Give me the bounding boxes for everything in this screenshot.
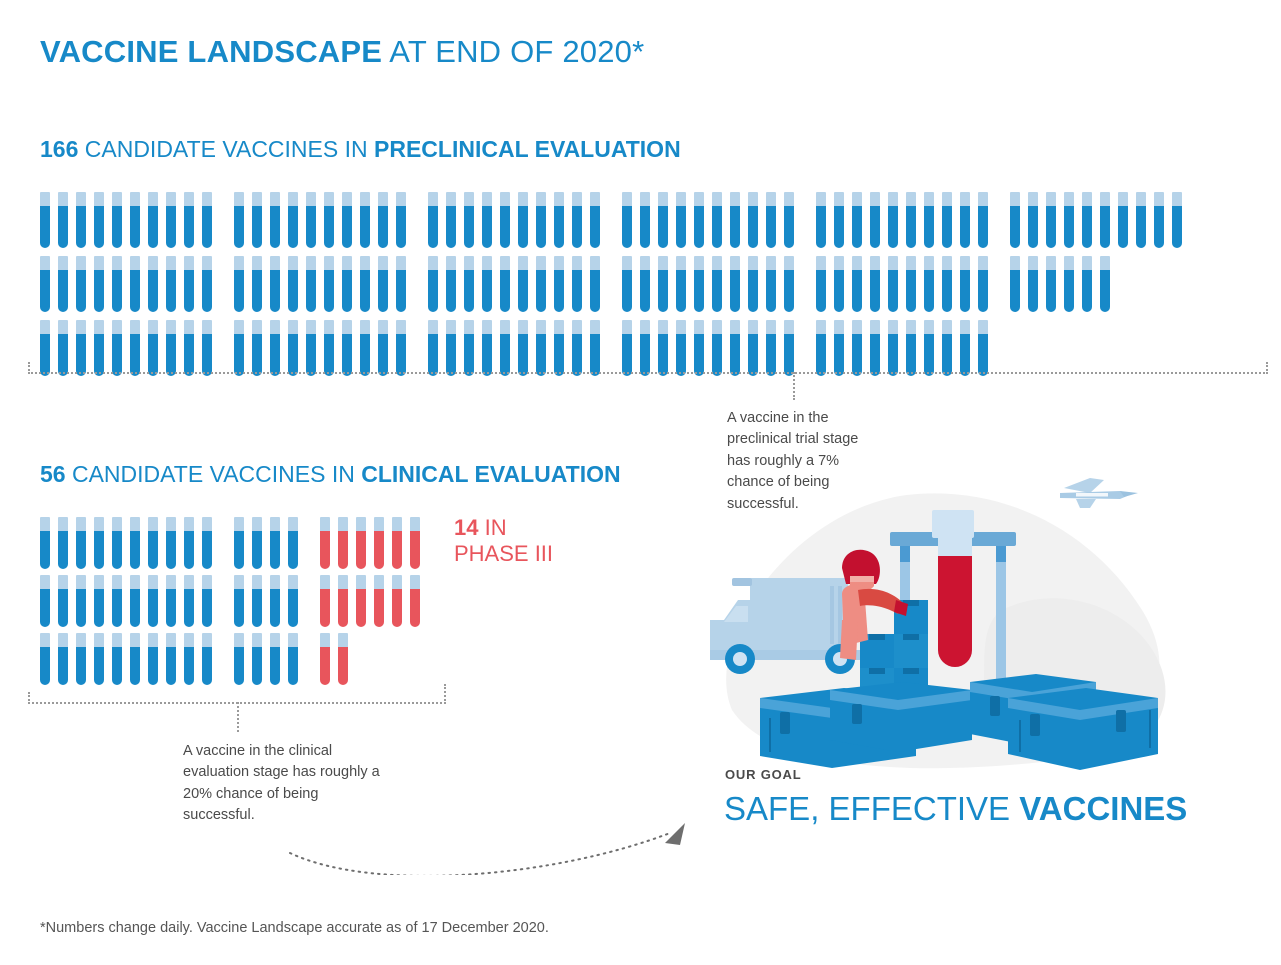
- tube-body: [288, 647, 298, 685]
- preclinical-bracket-dropline: [793, 372, 795, 400]
- tube-body: [270, 647, 280, 685]
- tube-row: [40, 517, 428, 569]
- tube-body: [410, 589, 420, 627]
- tube-icon: [76, 633, 86, 685]
- tube-body: [202, 206, 212, 248]
- tube-icon: [1118, 192, 1128, 248]
- tube-body: [396, 206, 406, 248]
- tube-body: [130, 531, 140, 569]
- tube-body: [428, 334, 438, 376]
- tube-body: [288, 206, 298, 248]
- footnote-text: *Numbers change daily. Vaccine Landscape…: [40, 920, 549, 936]
- tube-icon: [324, 320, 334, 376]
- tube-body: [834, 206, 844, 248]
- tube-body: [482, 270, 492, 312]
- tube-icon: [184, 192, 194, 248]
- tube-icon: [960, 320, 970, 376]
- tube-icon: [94, 575, 104, 627]
- tube-icon: [536, 192, 546, 248]
- tube-icon: [234, 575, 244, 627]
- tube-body: [712, 206, 722, 248]
- tube-icon: [94, 633, 104, 685]
- tube-icon: [112, 575, 122, 627]
- tube-icon: [730, 256, 740, 312]
- tube-body: [396, 334, 406, 376]
- tube-body: [816, 334, 826, 376]
- tube-icon: [554, 256, 564, 312]
- tube-body: [1154, 206, 1164, 248]
- tube-body: [784, 270, 794, 312]
- tube-icon: [234, 633, 244, 685]
- tube-body: [166, 334, 176, 376]
- tube-icon: [342, 192, 352, 248]
- tube-icon: [130, 633, 140, 685]
- tube-body: [306, 206, 316, 248]
- clinical-section-heading: 56 CANDIDATE VACCINES IN CLINICAL EVALUA…: [40, 461, 621, 488]
- tube-icon: [978, 256, 988, 312]
- tube-body: [378, 270, 388, 312]
- tube-body: [270, 206, 280, 248]
- tube-body: [342, 206, 352, 248]
- tube-icon: [816, 256, 826, 312]
- tube-body: [288, 334, 298, 376]
- tube-icon: [1028, 192, 1038, 248]
- tube-body: [784, 206, 794, 248]
- tube-icon: [658, 192, 668, 248]
- tube-body: [888, 334, 898, 376]
- tube-body: [942, 334, 952, 376]
- tube-group: [234, 633, 306, 685]
- preclinical-bracket-line: [28, 372, 1268, 374]
- tube-body: [518, 270, 528, 312]
- tube-body: [148, 206, 158, 248]
- tube-body: [536, 334, 546, 376]
- tube-icon: [978, 320, 988, 376]
- tube-body: [374, 589, 384, 627]
- tube-body: [306, 270, 316, 312]
- tube-body: [130, 270, 140, 312]
- tube-icon: [306, 320, 316, 376]
- tube-group: [1010, 192, 1190, 248]
- tube-icon: [360, 192, 370, 248]
- tube-icon: [622, 256, 632, 312]
- tube-icon-phase3: [356, 575, 366, 627]
- tube-row: [40, 575, 428, 627]
- tube-body: [94, 206, 104, 248]
- airplane-icon: [1060, 478, 1138, 508]
- tube-body: [396, 270, 406, 312]
- page-title: VACCINE LANDSCAPE AT END OF 2020*: [40, 34, 644, 70]
- tube-icon-phase3: [320, 575, 330, 627]
- tube-body: [374, 531, 384, 569]
- tube-body: [342, 270, 352, 312]
- tube-body: [184, 589, 194, 627]
- goal-title: SAFE, EFFECTIVE VACCINES: [724, 790, 1187, 828]
- tube-body: [852, 270, 862, 312]
- tube-body: [1100, 206, 1110, 248]
- tube-body: [166, 531, 176, 569]
- tube-body: [40, 206, 50, 248]
- tube-icon: [924, 192, 934, 248]
- tube-body: [166, 270, 176, 312]
- tube-icon: [288, 633, 298, 685]
- tube-body: [130, 334, 140, 376]
- tube-body: [76, 206, 86, 248]
- tube-body: [1046, 270, 1056, 312]
- tube-icon: [1082, 256, 1092, 312]
- tube-icon-phase3: [410, 575, 420, 627]
- tube-group: [816, 256, 996, 312]
- tube-body: [960, 270, 970, 312]
- tube-body: [730, 206, 740, 248]
- tube-icon: [712, 256, 722, 312]
- tube-body: [202, 647, 212, 685]
- tube-icon: [234, 256, 244, 312]
- tube-icon: [288, 256, 298, 312]
- tube-icon: [360, 320, 370, 376]
- tube-body: [356, 589, 366, 627]
- preclinical-heading-bold: PRECLINICAL EVALUATION: [374, 136, 681, 162]
- tube-icon: [518, 192, 528, 248]
- tube-body: [76, 270, 86, 312]
- tube-body: [40, 647, 50, 685]
- tube-body: [234, 531, 244, 569]
- tube-group: [40, 633, 220, 685]
- tube-icon: [906, 256, 916, 312]
- tube-icon: [960, 256, 970, 312]
- tube-icon: [58, 575, 68, 627]
- tube-icon: [500, 192, 510, 248]
- tube-group: [40, 320, 220, 376]
- tube-body: [694, 206, 704, 248]
- tube-body: [40, 270, 50, 312]
- tube-icon: [428, 256, 438, 312]
- tube-body: [622, 334, 632, 376]
- tube-body: [906, 206, 916, 248]
- tube-icon: [1046, 256, 1056, 312]
- tube-body: [58, 206, 68, 248]
- tube-icon: [676, 320, 686, 376]
- tube-group: [320, 633, 356, 685]
- tube-body: [500, 270, 510, 312]
- tube-icon: [234, 192, 244, 248]
- tube-icon: [202, 575, 212, 627]
- tube-group: [234, 575, 306, 627]
- tube-icon: [694, 320, 704, 376]
- tube-icon: [1028, 256, 1038, 312]
- tube-icon: [252, 517, 262, 569]
- tube-body: [40, 334, 50, 376]
- tube-group: [40, 517, 220, 569]
- clinical-heading-bold: CLINICAL EVALUATION: [361, 461, 620, 487]
- tube-icon: [572, 320, 582, 376]
- tube-icon: [712, 320, 722, 376]
- tube-icon: [816, 320, 826, 376]
- tube-row: [40, 320, 1190, 376]
- tube-icon-phase3: [320, 517, 330, 569]
- tube-body: [730, 334, 740, 376]
- tube-body: [130, 589, 140, 627]
- tube-icon: [184, 256, 194, 312]
- clinical-bracket-right-tick: [444, 684, 446, 704]
- tube-icon: [288, 517, 298, 569]
- tube-body: [518, 334, 528, 376]
- tube-icon: [640, 256, 650, 312]
- tube-icon: [40, 256, 50, 312]
- tube-body: [184, 206, 194, 248]
- tube-body: [446, 206, 456, 248]
- tube-group: [234, 320, 414, 376]
- tube-body: [130, 206, 140, 248]
- tube-icon: [166, 517, 176, 569]
- tube-body: [536, 270, 546, 312]
- tube-icon: [270, 256, 280, 312]
- tube-icon: [676, 192, 686, 248]
- tube-body: [1100, 270, 1110, 312]
- large-red-test-tube-icon: [932, 510, 974, 667]
- clinical-annotation-text: A vaccine in the clinical evaluation sta…: [183, 741, 383, 827]
- tube-group: [320, 575, 428, 627]
- tube-icon: [94, 320, 104, 376]
- infographic-page: VACCINE LANDSCAPE AT END OF 2020* 166 CA…: [0, 0, 1281, 965]
- tube-body: [252, 647, 262, 685]
- goal-title-bold: VACCINES: [1019, 790, 1187, 827]
- tube-icon: [888, 256, 898, 312]
- tube-body: [676, 334, 686, 376]
- tube-body: [40, 589, 50, 627]
- tube-body: [730, 270, 740, 312]
- tube-body: [392, 589, 402, 627]
- tube-body: [852, 334, 862, 376]
- tube-body: [590, 206, 600, 248]
- tube-icon: [870, 192, 880, 248]
- tube-body: [834, 334, 844, 376]
- tube-icon: [112, 192, 122, 248]
- tube-body: [500, 334, 510, 376]
- tube-icon: [58, 192, 68, 248]
- tube-icon: [40, 633, 50, 685]
- tube-body: [1028, 206, 1038, 248]
- tube-row: [40, 633, 428, 685]
- tube-body: [234, 270, 244, 312]
- tube-icon: [112, 633, 122, 685]
- tube-icon: [112, 320, 122, 376]
- tube-body: [694, 270, 704, 312]
- tube-icon: [94, 256, 104, 312]
- tube-body: [640, 334, 650, 376]
- tube-body: [76, 334, 86, 376]
- tube-body: [676, 270, 686, 312]
- cooler-box-right-front-icon: [1008, 688, 1158, 770]
- tube-icon: [148, 320, 158, 376]
- tube-icon: [816, 192, 826, 248]
- tube-body: [166, 206, 176, 248]
- tube-icon: [148, 256, 158, 312]
- tube-body: [184, 531, 194, 569]
- tube-icon: [234, 517, 244, 569]
- tube-group: [40, 575, 220, 627]
- tube-icon: [852, 192, 862, 248]
- phase-three-count: 14: [454, 515, 478, 540]
- tube-icon: [428, 192, 438, 248]
- tube-icon: [1136, 192, 1146, 248]
- tube-body: [252, 270, 262, 312]
- tube-icon: [676, 256, 686, 312]
- preclinical-count: 166: [40, 136, 78, 162]
- tube-icon-phase3: [374, 517, 384, 569]
- tube-icon: [184, 633, 194, 685]
- tube-icon: [622, 320, 632, 376]
- tube-icon: [590, 256, 600, 312]
- tube-body: [342, 334, 352, 376]
- tube-icon: [1010, 256, 1020, 312]
- tube-icon: [428, 320, 438, 376]
- tube-icon: [852, 256, 862, 312]
- tube-body: [1172, 206, 1182, 248]
- tube-body: [572, 334, 582, 376]
- tube-icon: [378, 320, 388, 376]
- phase-three-callout: 14 IN PHASE III: [454, 515, 553, 567]
- tube-icon: [464, 256, 474, 312]
- tube-icon: [730, 320, 740, 376]
- tube-body: [694, 334, 704, 376]
- tube-body: [748, 334, 758, 376]
- tube-body: [360, 270, 370, 312]
- tube-icon: [270, 320, 280, 376]
- tube-icon: [360, 256, 370, 312]
- tube-icon: [324, 256, 334, 312]
- tube-icon: [1154, 192, 1164, 248]
- tube-body: [58, 647, 68, 685]
- tube-icon: [906, 320, 916, 376]
- page-title-light: AT END OF 2020*: [382, 34, 644, 69]
- tube-body: [202, 270, 212, 312]
- tube-icon: [1172, 192, 1182, 248]
- tube-body: [1064, 206, 1074, 248]
- tube-icon: [906, 192, 916, 248]
- tube-body: [554, 334, 564, 376]
- preclinical-tube-grid: [40, 192, 1190, 384]
- tube-icon: [518, 320, 528, 376]
- tube-body: [766, 206, 776, 248]
- tube-icon: [482, 320, 492, 376]
- tube-body: [252, 589, 262, 627]
- tube-icon: [694, 192, 704, 248]
- tube-icon: [924, 320, 934, 376]
- tube-icon: [130, 320, 140, 376]
- tube-body: [58, 270, 68, 312]
- tube-body: [166, 589, 176, 627]
- tube-icon: [784, 256, 794, 312]
- tube-body: [320, 531, 330, 569]
- tube-icon: [942, 192, 952, 248]
- preclinical-bracket-right-tick: [1266, 362, 1268, 374]
- tube-body: [924, 334, 934, 376]
- tube-body: [572, 270, 582, 312]
- tube-body: [392, 531, 402, 569]
- tube-body: [536, 206, 546, 248]
- tube-group: [1010, 256, 1118, 312]
- tube-icon: [148, 517, 158, 569]
- tube-body: [94, 334, 104, 376]
- tube-body: [338, 647, 348, 685]
- tube-body: [870, 334, 880, 376]
- tube-body: [234, 334, 244, 376]
- tube-body: [202, 334, 212, 376]
- tube-body: [924, 270, 934, 312]
- tube-icon: [766, 320, 776, 376]
- tube-icon: [252, 575, 262, 627]
- tube-icon: [1100, 192, 1110, 248]
- tube-icon: [870, 320, 880, 376]
- tube-icon: [640, 192, 650, 248]
- tube-icon: [870, 256, 880, 312]
- tube-icon: [590, 320, 600, 376]
- tube-body: [148, 589, 158, 627]
- tube-icon: [536, 320, 546, 376]
- tube-body: [112, 270, 122, 312]
- tube-group: [622, 192, 802, 248]
- tube-icon-phase3: [410, 517, 420, 569]
- tube-icon: [730, 192, 740, 248]
- tube-group: [320, 517, 428, 569]
- tube-body: [748, 270, 758, 312]
- tube-icon: [76, 320, 86, 376]
- tube-body: [1082, 270, 1092, 312]
- tube-icon-phase3: [338, 575, 348, 627]
- tube-body: [676, 206, 686, 248]
- tube-icon: [640, 320, 650, 376]
- tube-body: [306, 334, 316, 376]
- tube-group: [428, 256, 608, 312]
- clinical-count: 56: [40, 461, 66, 487]
- tube-icon: [148, 192, 158, 248]
- clinical-bracket-dropline: [237, 702, 239, 732]
- tube-icon: [942, 256, 952, 312]
- tube-icon: [166, 633, 176, 685]
- tube-body: [130, 647, 140, 685]
- tube-body: [338, 531, 348, 569]
- tube-body: [500, 206, 510, 248]
- tube-body: [1046, 206, 1056, 248]
- vaccine-logistics-illustration: [672, 460, 1212, 790]
- tube-icon: [202, 633, 212, 685]
- tube-body: [978, 270, 988, 312]
- tube-body: [748, 206, 758, 248]
- tube-body: [288, 589, 298, 627]
- tube-body: [572, 206, 582, 248]
- tube-body: [320, 589, 330, 627]
- tube-icon: [112, 256, 122, 312]
- tube-icon: [622, 192, 632, 248]
- tube-body: [324, 334, 334, 376]
- tube-icon: [58, 633, 68, 685]
- tube-body: [112, 206, 122, 248]
- tube-icon: [112, 517, 122, 569]
- tube-body: [252, 334, 262, 376]
- tube-group: [234, 517, 306, 569]
- curved-arrow-icon: [285, 815, 705, 875]
- tube-icon: [306, 256, 316, 312]
- tube-icon: [130, 256, 140, 312]
- tube-icon: [396, 320, 406, 376]
- tube-icon: [288, 575, 298, 627]
- tube-body: [338, 589, 348, 627]
- tube-body: [1028, 270, 1038, 312]
- tube-icon: [748, 256, 758, 312]
- tube-icon: [536, 256, 546, 312]
- tube-icon: [40, 517, 50, 569]
